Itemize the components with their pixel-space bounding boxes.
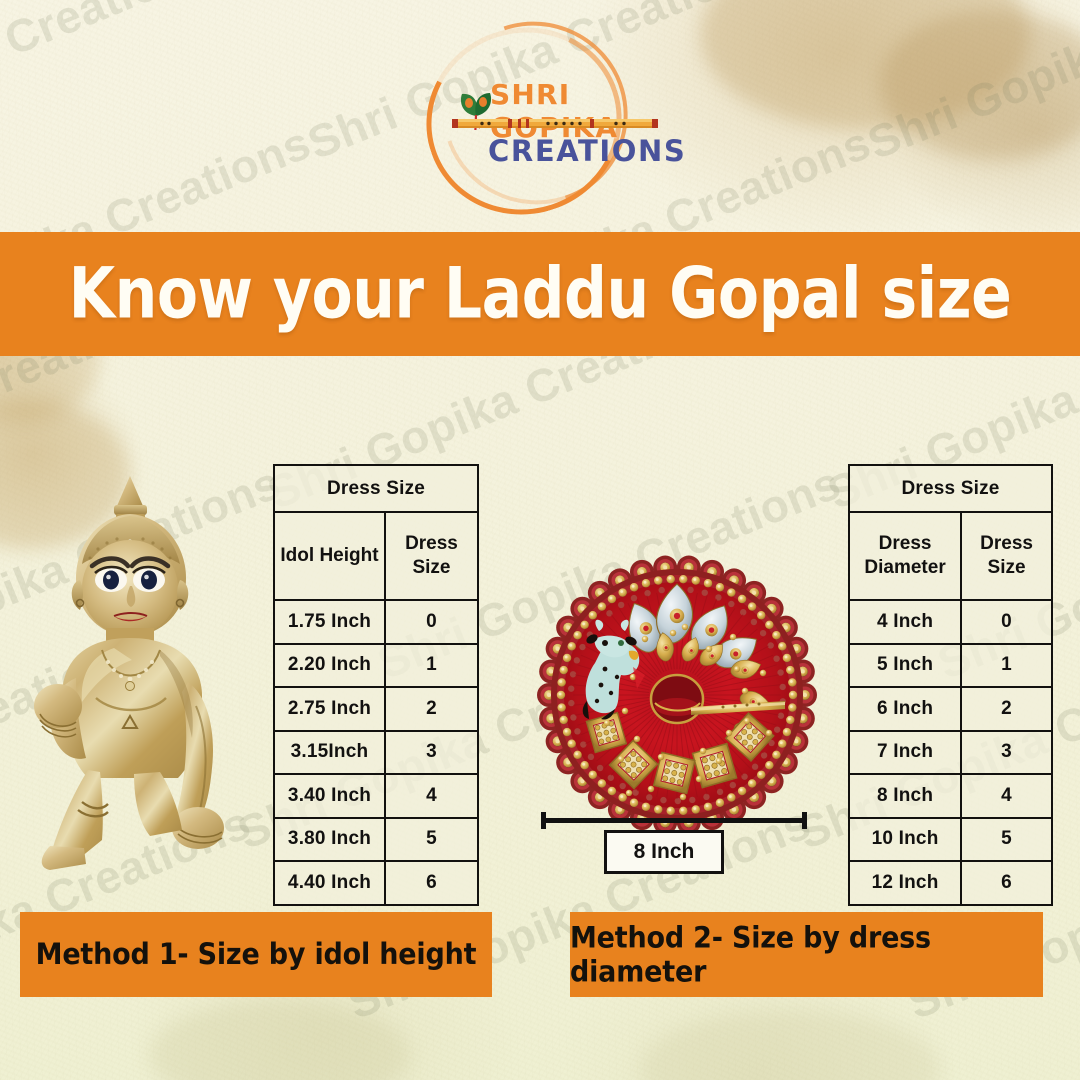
table-row: 8 Inch 4 (849, 774, 1052, 818)
table-right-title: Dress Size (849, 465, 1052, 512)
table-row: 3.40 Inch 4 (274, 774, 478, 818)
table-title-row: Dress Size (274, 465, 478, 512)
table-row: 7 Inch 3 (849, 731, 1052, 775)
cell-dress-size: 1 (385, 644, 478, 688)
cell-dress-diameter: 10 Inch (849, 818, 961, 862)
cell-idol-height: 3.80 Inch (274, 818, 385, 862)
cell-dress-diameter: 4 Inch (849, 600, 961, 644)
table-row: 4 Inch 0 (849, 600, 1052, 644)
column-header-dress-diameter: Dress Diameter (849, 512, 961, 600)
cell-dress-size: 2 (961, 687, 1052, 731)
logo-text-bottom: CREATIONS (488, 134, 678, 168)
measurement-bar (541, 812, 807, 828)
cell-dress-diameter: 7 Inch (849, 731, 961, 775)
infographic-page: Shri Gopika CreationsShri Gopika Creatio… (0, 0, 1080, 1080)
cell-idol-height: 2.75 Inch (274, 687, 385, 731)
table-title-row: Dress Size (849, 465, 1052, 512)
table-row: 4.40 Inch 6 (274, 861, 478, 905)
method-2-label: Method 2- Size by dress diameter (570, 920, 1043, 988)
cell-dress-diameter: 6 Inch (849, 687, 961, 731)
cell-idol-height: 1.75 Inch (274, 600, 385, 644)
paper-stain (640, 1010, 940, 1080)
laddu-gopal-dress-image (533, 551, 821, 839)
table-row: 10 Inch 5 (849, 818, 1052, 862)
column-header-dress-size: Dress Size (385, 512, 478, 600)
table-header-row: Dress Diameter Dress Size (849, 512, 1052, 600)
flute-icon (452, 118, 658, 129)
cell-dress-size: 4 (961, 774, 1052, 818)
cell-dress-size: 6 (385, 861, 478, 905)
measurement-label: 8 Inch (604, 830, 724, 874)
cell-dress-diameter: 5 Inch (849, 644, 961, 688)
measure-line (541, 818, 807, 823)
table-left-title: Dress Size (274, 465, 478, 512)
cell-dress-diameter: 8 Inch (849, 774, 961, 818)
table-row: 6 Inch 2 (849, 687, 1052, 731)
cell-dress-diameter: 12 Inch (849, 861, 961, 905)
cell-dress-size: 1 (961, 644, 1052, 688)
cell-dress-size: 0 (385, 600, 478, 644)
brand-header: SHRI GOPIKA CREA (0, 0, 1080, 232)
laddu-gopal-idol-image (10, 470, 260, 880)
table-header-row: Idol Height Dress Size (274, 512, 478, 600)
measure-end-cap-right (802, 812, 807, 829)
cell-dress-size: 2 (385, 687, 478, 731)
cell-dress-size: 0 (961, 600, 1052, 644)
brand-logo: SHRI GOPIKA CREA (404, 22, 660, 218)
method-2-banner: Method 2- Size by dress diameter (570, 912, 1043, 997)
table-dress-diameter: Dress Size Dress Diameter Dress Size 4 I… (848, 464, 1053, 906)
column-header-dress-size: Dress Size (961, 512, 1052, 600)
cell-idol-height: 2.20 Inch (274, 644, 385, 688)
title-banner: Know your Laddu Gopal size (0, 232, 1080, 356)
cell-dress-size: 5 (385, 818, 478, 862)
method-1-label: Method 1- Size by idol height (36, 937, 477, 971)
table-row: 12 Inch 6 (849, 861, 1052, 905)
cell-idol-height: 4.40 Inch (274, 861, 385, 905)
cell-idol-height: 3.15Inch (274, 731, 385, 775)
cell-idol-height: 3.40 Inch (274, 774, 385, 818)
paper-stain (150, 1000, 410, 1080)
cell-dress-size: 5 (961, 818, 1052, 862)
method-1-banner: Method 1- Size by idol height (20, 912, 492, 997)
cell-dress-size: 6 (961, 861, 1052, 905)
cell-dress-size: 3 (385, 731, 478, 775)
table-row: 3.80 Inch 5 (274, 818, 478, 862)
table-idol-height: Dress Size Idol Height Dress Size 1.75 I… (273, 464, 479, 906)
table-row: 2.75 Inch 2 (274, 687, 478, 731)
table-row: 2.20 Inch 1 (274, 644, 478, 688)
table-row: 5 Inch 1 (849, 644, 1052, 688)
column-header-idol-height: Idol Height (274, 512, 385, 600)
page-title: Know your Laddu Gopal size (69, 253, 1012, 336)
table-row: 3.15Inch 3 (274, 731, 478, 775)
measure-end-cap-left (541, 812, 546, 829)
table-row: 1.75 Inch 0 (274, 600, 478, 644)
cell-dress-size: 4 (385, 774, 478, 818)
cell-dress-size: 3 (961, 731, 1052, 775)
